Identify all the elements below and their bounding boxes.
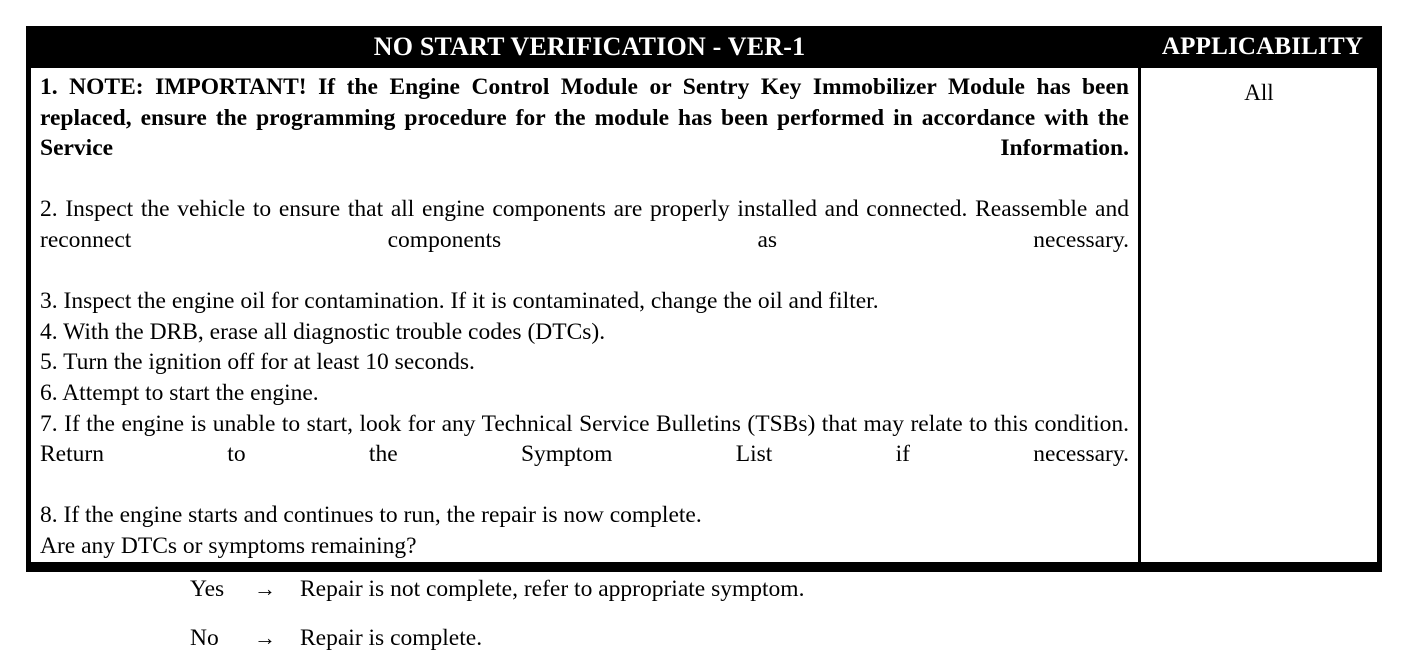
applicability-cell: All — [1141, 68, 1377, 562]
branch-yes[interactable]: Yes → Repair is not complete, refer to a… — [40, 574, 1129, 605]
arrow-right-icon: → — [254, 623, 300, 654]
decision-question: Are any DTCs or symptoms remaining? — [40, 531, 1129, 562]
table-header: NO START VERIFICATION - VER-1 APPLICABIL… — [26, 26, 1382, 68]
step-item-7: 7. If the engine is unable to start, loo… — [40, 409, 1129, 501]
branch-no-action: Repair is complete. — [300, 623, 482, 654]
applicability-value: All — [1244, 80, 1273, 105]
arrow-right-icon: → — [254, 574, 300, 605]
step-item-8: 8. If the engine starts and continues to… — [40, 500, 1129, 531]
branch-yes-action: Repair is not complete, refer to appropr… — [300, 574, 804, 605]
branch-no-label: No — [190, 623, 254, 654]
page-title: NO START VERIFICATION - VER-1 — [31, 26, 1148, 68]
step-item-1: 1. NOTE: IMPORTANT! If the Engine Contro… — [40, 72, 1129, 194]
step-item-6: 6. Attempt to start the engine. — [40, 378, 1129, 409]
verification-table: NO START VERIFICATION - VER-1 APPLICABIL… — [26, 26, 1382, 572]
step-item-2: 2. Inspect the vehicle to ensure that al… — [40, 194, 1129, 286]
steps-list: 1. NOTE: IMPORTANT! If the Engine Contro… — [40, 72, 1129, 562]
branch-yes-label: Yes — [190, 574, 254, 605]
step-item-5: 5. Turn the ignition off for at least 10… — [40, 347, 1129, 378]
decision-branches: Yes → Repair is not complete, refer to a… — [40, 574, 1129, 654]
step-item-3: 3. Inspect the engine oil for contaminat… — [40, 286, 1129, 317]
table-body: 1. NOTE: IMPORTANT! If the Engine Contro… — [31, 68, 1377, 562]
applicability-column-header: APPLICABILITY — [1148, 26, 1377, 68]
branch-no[interactable]: No → Repair is complete. — [40, 623, 1129, 654]
step-item-4: 4. With the DRB, erase all diagnostic tr… — [40, 317, 1129, 348]
steps-cell: 1. NOTE: IMPORTANT! If the Engine Contro… — [31, 68, 1138, 562]
